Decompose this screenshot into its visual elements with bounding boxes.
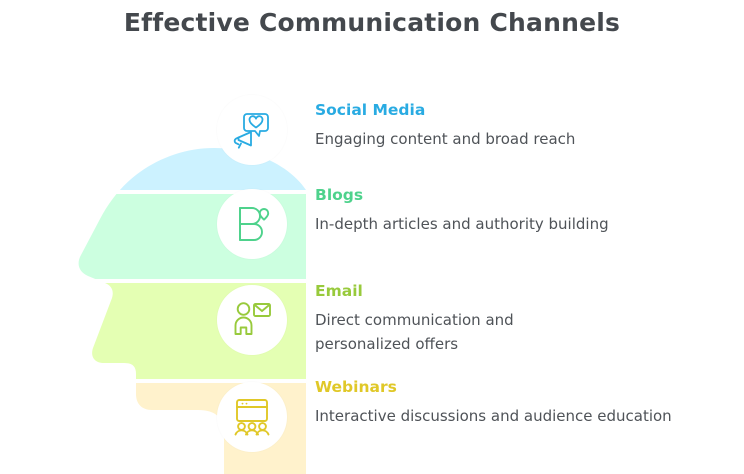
channel-title-blogs: Blogs bbox=[315, 185, 715, 205]
megaphone-heart-speech-bubble-icon bbox=[230, 108, 274, 152]
page-title: Effective Communication Channels bbox=[0, 8, 744, 37]
channel-item-social-media: Social Media Engaging content and broad … bbox=[315, 100, 715, 151]
icon-badge-email bbox=[217, 285, 287, 355]
channel-item-email: Email Direct communication and personali… bbox=[315, 281, 715, 356]
browser-window-audience-icon bbox=[230, 395, 274, 439]
icon-badge-webinars bbox=[217, 382, 287, 452]
channel-description-blogs: In-depth articles and authority building bbox=[315, 212, 635, 236]
channel-title-social-media: Social Media bbox=[315, 100, 715, 120]
channel-item-blogs: Blogs In-depth articles and authority bu… bbox=[315, 185, 715, 236]
channel-title-webinars: Webinars bbox=[315, 377, 715, 397]
channel-description-webinars: Interactive discussions and audience edu… bbox=[315, 404, 680, 428]
channel-item-webinars: Webinars Interactive discussions and aud… bbox=[315, 377, 715, 428]
icon-badge-social-media bbox=[217, 95, 287, 165]
channel-title-email: Email bbox=[315, 281, 715, 301]
channel-description-email: Direct communication and personalized of… bbox=[315, 308, 585, 356]
letter-b-blogger-icon bbox=[230, 202, 274, 246]
channel-description-social-media: Engaging content and broad reach bbox=[315, 127, 687, 151]
icon-badge-blogs bbox=[217, 189, 287, 259]
person-envelope-icon bbox=[230, 298, 274, 342]
